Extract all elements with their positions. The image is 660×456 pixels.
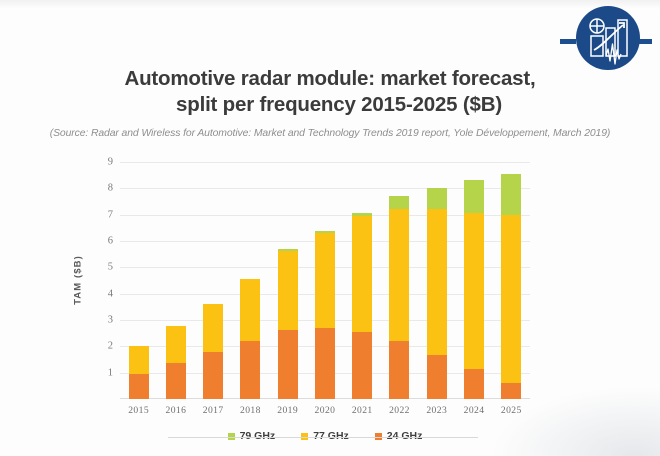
bar-segment[interactable] <box>315 233 335 328</box>
bar-segment[interactable] <box>389 196 409 209</box>
y-axis-label: TAM ($B) <box>73 255 84 305</box>
bar-column[interactable]: 2021 <box>352 162 372 399</box>
title-line-2: split per frequency 2015-2025 ($B) <box>0 92 660 118</box>
legend-item[interactable]: 79 GHz <box>228 430 276 442</box>
bar-segment[interactable] <box>352 216 372 332</box>
bar-segment[interactable] <box>129 374 149 399</box>
legend-swatch-icon <box>301 433 308 440</box>
x-axis-tick: 2019 <box>277 405 298 416</box>
legend-label: 24 GHz <box>387 430 423 442</box>
bar-column[interactable]: 2015 <box>129 162 149 399</box>
bar-segment[interactable] <box>240 279 260 341</box>
bar-segment[interactable] <box>203 304 223 351</box>
bar-column[interactable]: 2019 <box>278 162 298 399</box>
bar-column[interactable]: 2017 <box>203 162 223 399</box>
title-line-1: Automotive radar module: market forecast… <box>0 66 660 92</box>
slide-root: Automotive radar module: market forecast… <box>0 0 660 456</box>
y-axis-tick: 8 <box>108 183 113 194</box>
bar-segment[interactable] <box>278 330 298 399</box>
legend-label: 79 GHz <box>240 430 276 442</box>
bar-column[interactable]: 2022 <box>389 162 409 399</box>
bar-segment[interactable] <box>464 369 484 399</box>
bar-segment[interactable] <box>389 209 409 341</box>
bar-segment[interactable] <box>464 213 484 368</box>
x-axis-tick: 2017 <box>203 405 224 416</box>
legend-swatch-icon <box>375 433 382 440</box>
legend-swatch-icon <box>228 433 235 440</box>
x-axis-tick: 2020 <box>315 405 336 416</box>
bar-column[interactable]: 2018 <box>240 162 260 399</box>
bar-column[interactable]: 2024 <box>464 162 484 399</box>
y-axis-tick: 5 <box>108 262 113 273</box>
y-axis-tick: 7 <box>108 209 113 220</box>
legend-item[interactable]: 24 GHz <box>375 430 423 442</box>
source-note: (Source: Radar and Wireless for Automoti… <box>0 128 660 139</box>
bar-column[interactable]: 2016 <box>166 162 186 399</box>
x-axis-tick: 2016 <box>165 405 186 416</box>
y-axis-tick: 4 <box>108 288 113 299</box>
bar-segment[interactable] <box>278 251 298 331</box>
bar-segment[interactable] <box>427 355 447 399</box>
x-axis-tick: 2015 <box>128 405 149 416</box>
y-axis-tick: 3 <box>108 314 113 325</box>
bar-segment[interactable] <box>166 363 186 399</box>
page-divider <box>168 437 478 438</box>
logo-circle <box>576 6 640 70</box>
y-axis-tick: 6 <box>108 235 113 246</box>
x-axis-tick: 2021 <box>352 405 373 416</box>
page-title: Automotive radar module: market forecast… <box>0 66 660 118</box>
bar-segment[interactable] <box>129 346 149 374</box>
x-axis-tick: 2024 <box>464 405 485 416</box>
bar-group: 2015201620172018201920202021202220232024… <box>120 162 530 399</box>
bar-segment[interactable] <box>315 328 335 399</box>
bar-segment[interactable] <box>427 188 447 209</box>
bar-segment[interactable] <box>166 326 186 362</box>
y-axis-tick: 2 <box>108 341 113 352</box>
x-axis-tick: 2023 <box>426 405 447 416</box>
bar-segment[interactable] <box>240 341 260 399</box>
x-axis-tick: 2022 <box>389 405 410 416</box>
logo-rule-left <box>560 39 576 44</box>
bar-segment[interactable] <box>203 352 223 399</box>
x-axis-tick: 2018 <box>240 405 261 416</box>
bar-segment[interactable] <box>389 341 409 399</box>
plot-area: 123456789 201520162017201820192020202120… <box>120 162 530 399</box>
y-axis-tick: 9 <box>108 157 113 168</box>
legend-label: 77 GHz <box>313 430 349 442</box>
bar-column[interactable]: 2025 <box>501 162 521 399</box>
y-axis-tick: 1 <box>108 367 113 378</box>
bar-segment[interactable] <box>501 215 521 383</box>
bar-segment[interactable] <box>501 174 521 215</box>
chart-legend: 79 GHz77 GHz24 GHz <box>120 430 530 442</box>
bar-segment[interactable] <box>352 332 372 399</box>
bar-segment[interactable] <box>427 209 447 355</box>
legend-item[interactable]: 77 GHz <box>301 430 349 442</box>
bar-segment[interactable] <box>464 180 484 213</box>
bar-column[interactable]: 2020 <box>315 162 335 399</box>
bar-column[interactable]: 2023 <box>427 162 447 399</box>
corner-shadow <box>490 386 660 456</box>
